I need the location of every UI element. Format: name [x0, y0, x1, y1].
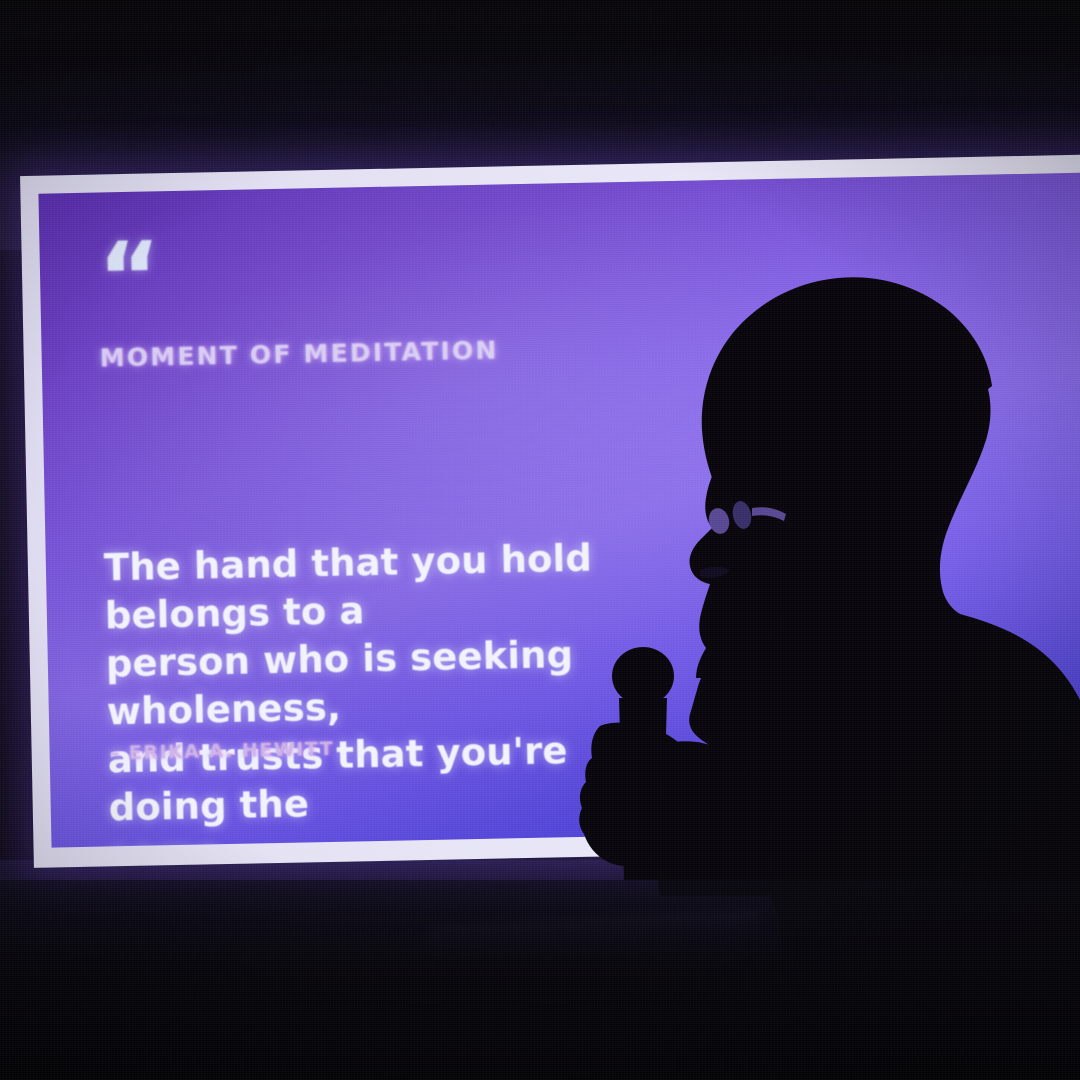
slide-content: “ MOMENT OF MEDITATION The hand that you… [97, 225, 1077, 816]
projected-slide: “ MOMENT OF MEDITATION The hand that you… [20, 154, 1080, 868]
quote-line: person who is seeking wholeness, [105, 629, 667, 736]
quotation-mark-icon: “ [97, 225, 1067, 314]
slide-canvas: “ MOMENT OF MEDITATION The hand that you… [38, 172, 1080, 847]
quote-line: The hand that you hold belongs to a [103, 533, 665, 640]
slide-eyebrow-title: MOMENT OF MEDITATION [99, 324, 1068, 372]
quote-body: The hand that you hold belongs to a pers… [103, 533, 670, 847]
foreground-shadow [0, 880, 1080, 1080]
scene: “ MOMENT OF MEDITATION The hand that you… [0, 0, 1080, 1080]
quote-attribution: – ERIKA A. HEWITT [109, 738, 334, 765]
